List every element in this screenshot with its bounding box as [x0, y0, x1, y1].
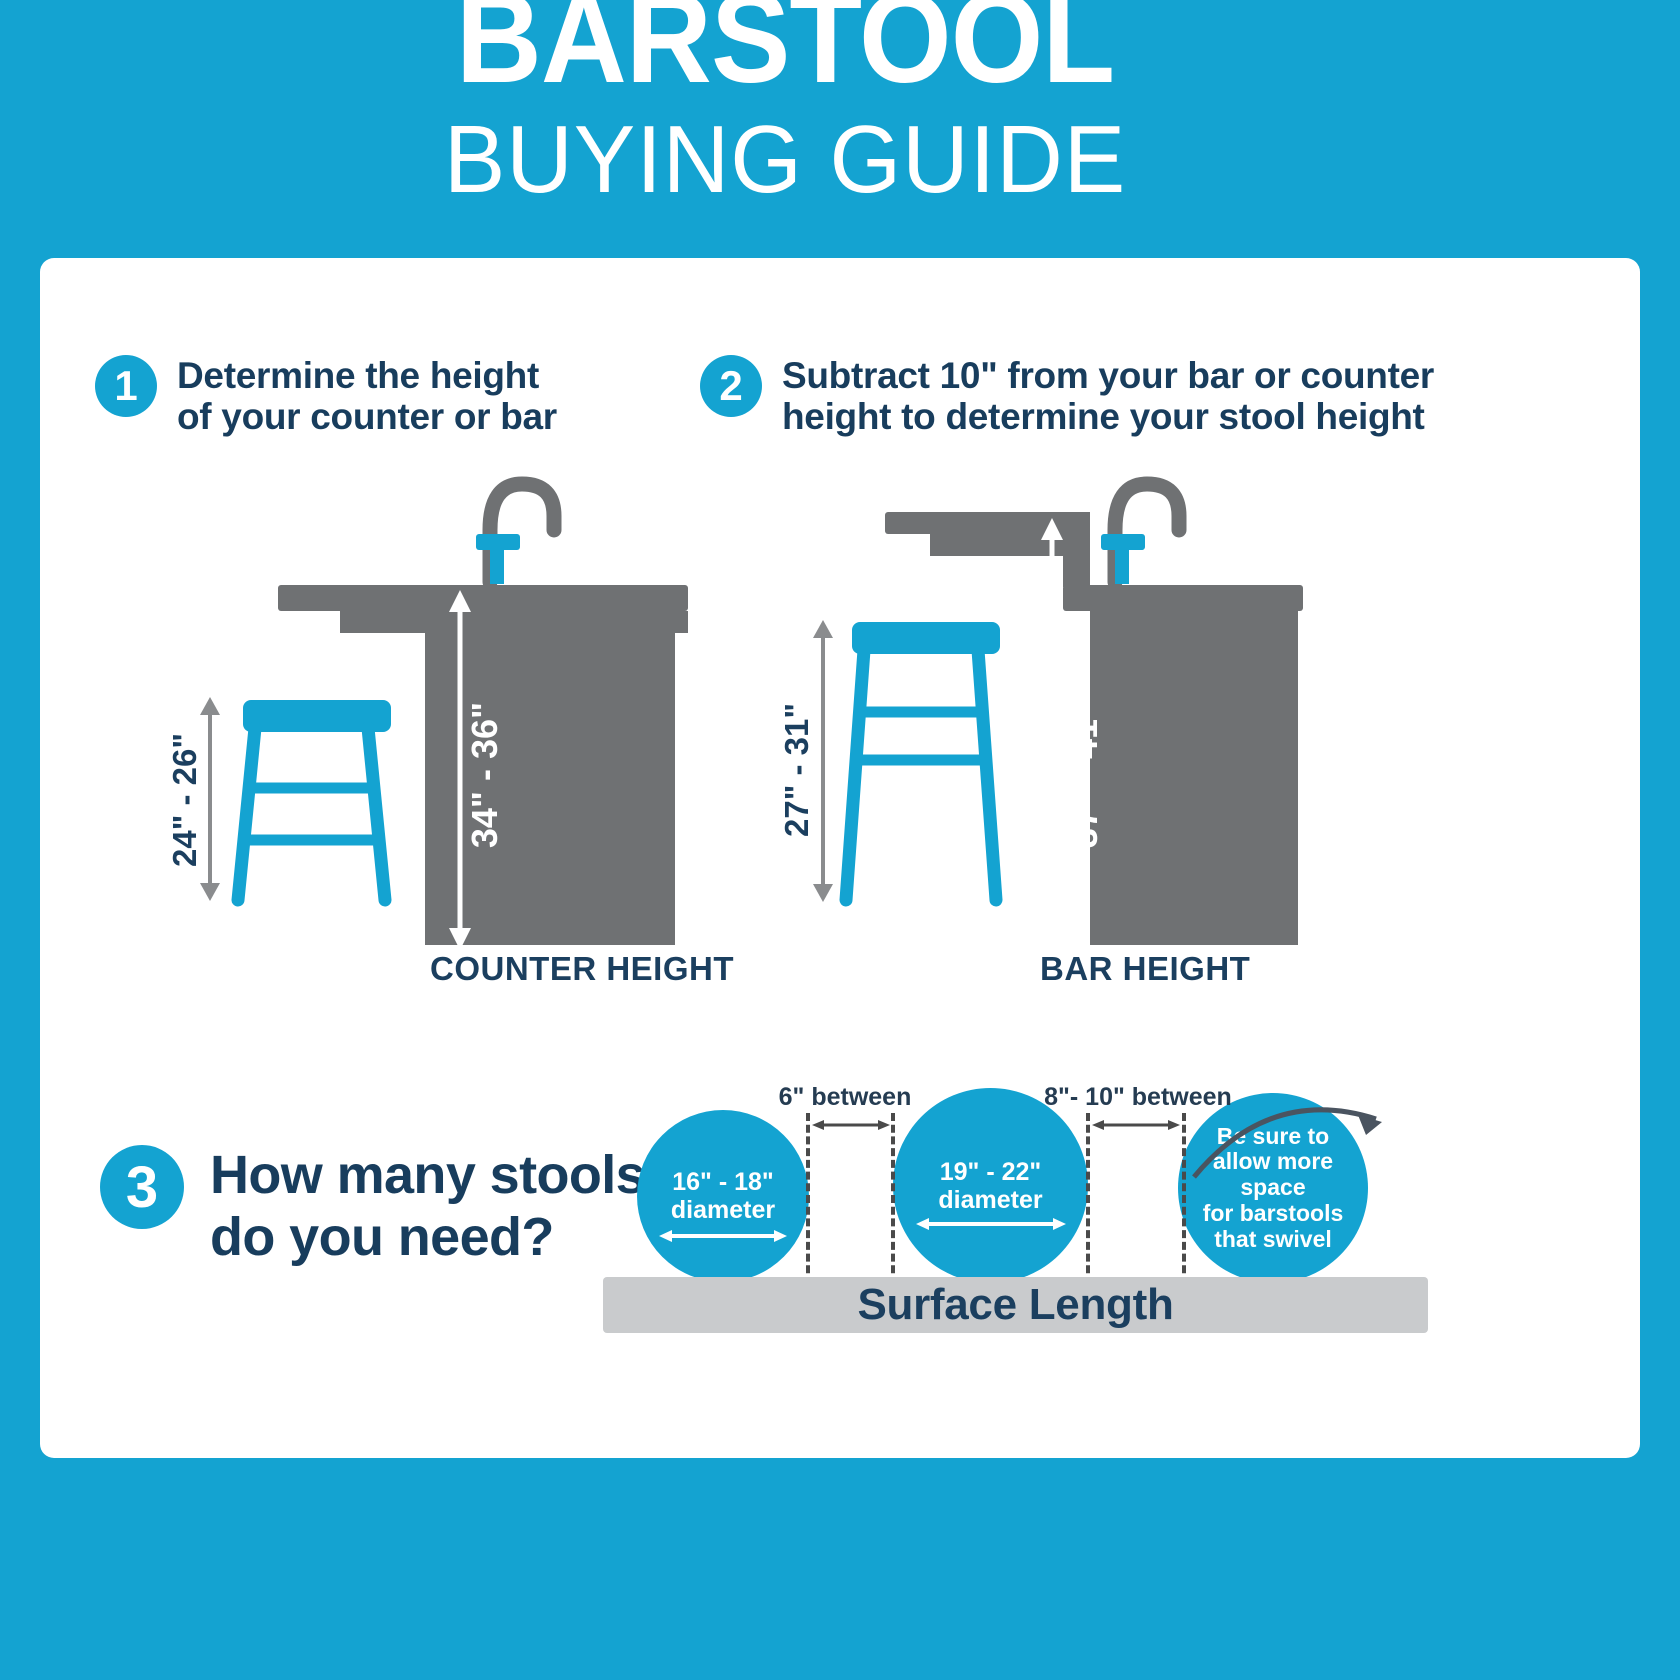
- surface-length-label: Surface Length: [857, 1280, 1173, 1330]
- counter-stool-height-label: 24" - 26": [160, 720, 210, 880]
- gap-1-dash-right: [891, 1113, 895, 1285]
- counter-overhang-lower: [340, 611, 688, 633]
- faucet-icon-counter: [470, 470, 580, 585]
- stool-circle-2-size: 19" - 22": [940, 1158, 1042, 1186]
- gap-2-dash-left: [1086, 1113, 1090, 1285]
- stool-circle-1: 16" - 18" diameter: [637, 1110, 809, 1282]
- step-2-text: Subtract 10" from your bar or counter he…: [782, 355, 1434, 438]
- faucet-icon-bar: [1095, 470, 1205, 585]
- bar-height-caption: BAR HEIGHT: [1040, 950, 1250, 988]
- gap-1-label: 6" between: [760, 1083, 930, 1112]
- page-header: BARSTOOL BUYING GUIDE: [0, 0, 1680, 262]
- stool-circle-2-unit: diameter: [938, 1186, 1042, 1214]
- page-title-main: BARSTOOL: [4, 0, 1566, 105]
- step-3-text: How many stools do you need?: [210, 1145, 645, 1268]
- step-3-header: 3 How many stools do you need?: [100, 1145, 645, 1268]
- step-2-header: 2 Subtract 10" from your bar or counter …: [700, 355, 1434, 438]
- step-1-text: Determine the height of your counter or …: [177, 355, 557, 438]
- gap-2-arrow: [1092, 1117, 1180, 1133]
- bar-height-label: 37" - 41": [1055, 690, 1115, 860]
- stool-circle-2-diameter-arrow: [916, 1216, 1066, 1232]
- bar-stool-height-label: 27" - 31": [772, 690, 822, 850]
- counter-height-caption: COUNTER HEIGHT: [430, 950, 734, 988]
- counter-height-label: 34" - 36": [455, 690, 515, 860]
- stool-circle-1-unit: diameter: [671, 1196, 775, 1224]
- counter-stool-legs: [230, 728, 410, 903]
- bar-stool-legs: [838, 650, 1020, 904]
- gap-2-label: 8"- 10" between: [1028, 1083, 1248, 1112]
- stool-circle-2: 19" - 22" diameter: [893, 1088, 1088, 1283]
- step-2-badge: 2: [700, 355, 762, 417]
- bar-counter-slab: [1063, 585, 1303, 611]
- bar-body: [1090, 611, 1298, 945]
- stool-circle-1-diameter-arrow: [659, 1228, 787, 1244]
- step-1-badge: 1: [95, 355, 157, 417]
- step-3-badge: 3: [100, 1145, 184, 1229]
- step-1-header: 1 Determine the height of your counter o…: [95, 355, 557, 438]
- gap-2-dash-right: [1182, 1113, 1186, 1285]
- page-title-sub: BUYING GUIDE: [0, 110, 1591, 211]
- gap-1-arrow: [812, 1117, 890, 1133]
- surface-length-bar: Surface Length: [603, 1277, 1428, 1333]
- gap-1-dash-left: [806, 1113, 810, 1285]
- stool-circle-1-size: 16" - 18": [672, 1168, 774, 1196]
